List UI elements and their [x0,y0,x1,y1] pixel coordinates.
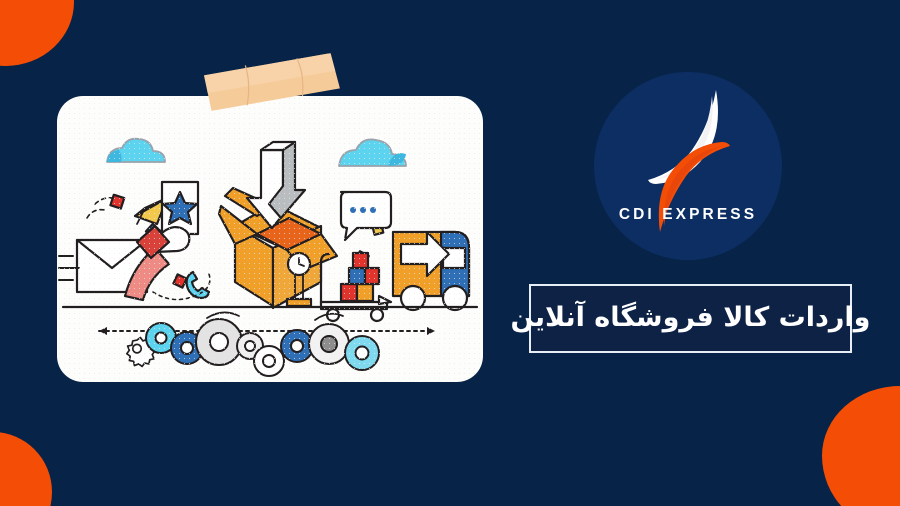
confetti-square-red-2 [173,274,186,287]
online-shopping-import-illustration [57,96,483,382]
bottom-left-orange-blob [0,432,52,506]
headline-text: واردات کالا فروشگاه آنلاین [511,304,871,331]
confetti-square-red [110,195,124,209]
cdi-express-logo: CDI EXPRESS [594,72,782,260]
illustration-card [57,96,483,382]
top-left-orange-blob [0,0,74,66]
gear-cyan-2 [345,336,379,370]
cloud-right [339,139,406,166]
poster-canvas: CDI EXPRESS واردات کالا فروشگاه آنلاین [0,0,900,506]
paper-plane [87,198,167,224]
delivery-truck [379,232,469,310]
gear-grey-1 [196,319,242,365]
trolley-with-boxes [321,253,387,321]
gear-white-2 [254,346,284,376]
cloud-left [107,139,165,162]
gear-row [127,312,379,376]
logo-wordmark: CDI EXPRESS [594,206,782,224]
bottom-right-orange-blob [822,386,900,506]
gear-grey-2 [309,324,349,364]
headline-banner: واردات کالا فروشگاه آنلاین [529,284,852,353]
illustration-canvas [57,96,483,382]
